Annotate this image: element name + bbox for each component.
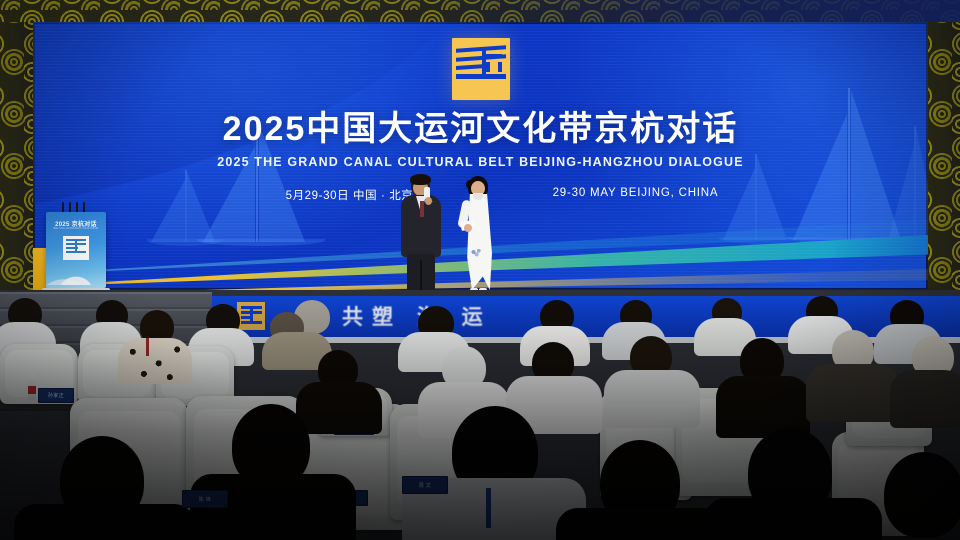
grand-canal-yun-seal-icon	[237, 302, 265, 330]
audience-member	[14, 504, 196, 540]
female-host	[456, 176, 500, 296]
grand-canal-yun-seal-icon	[63, 236, 89, 260]
event-title-chinese: 2025中国大运河文化带京杭对话	[33, 112, 928, 148]
audience-name-card: 周 文	[402, 476, 448, 494]
speaker-podium: 2025 京杭对话 BEIJING-HANGZHOU DIALOGUE	[46, 212, 106, 288]
decorative-swirl-border-top	[0, 0, 960, 22]
podium-title-english: BEIJING-HANGZHOU DIALOGUE	[46, 227, 106, 230]
audience-member	[806, 364, 900, 422]
audience-member	[890, 370, 960, 428]
male-host	[398, 175, 444, 297]
audience-member	[118, 338, 192, 384]
audience-member	[556, 508, 726, 540]
water-bottle-label	[28, 386, 36, 394]
lanyard-icon	[486, 488, 491, 528]
audience-name-card: 陈 锋	[182, 490, 228, 508]
event-title-english: 2025 THE GRAND CANAL CULTURAL BELT BEIJI…	[33, 155, 928, 169]
podium-wave-graphic	[46, 265, 106, 285]
event-date-english: 29-30 MAY BEIJING, CHINA	[188, 187, 928, 199]
grand-canal-yun-seal-icon	[452, 38, 510, 100]
decorative-swirl-border-right	[928, 0, 960, 300]
audience-member	[884, 452, 960, 538]
lanyard-icon	[146, 338, 149, 356]
audience-member	[704, 498, 882, 540]
audience-member	[296, 382, 382, 434]
audience-member	[604, 370, 700, 428]
decorative-swirl-border-left	[0, 0, 33, 300]
stage-front-banner-text: 共塑 海 运	[342, 301, 492, 331]
conference-stage-photo: 2025中国大运河文化带京杭对话 2025 THE GRAND CANAL CU…	[0, 0, 960, 540]
audience-name-card: 孙家正	[38, 388, 74, 403]
